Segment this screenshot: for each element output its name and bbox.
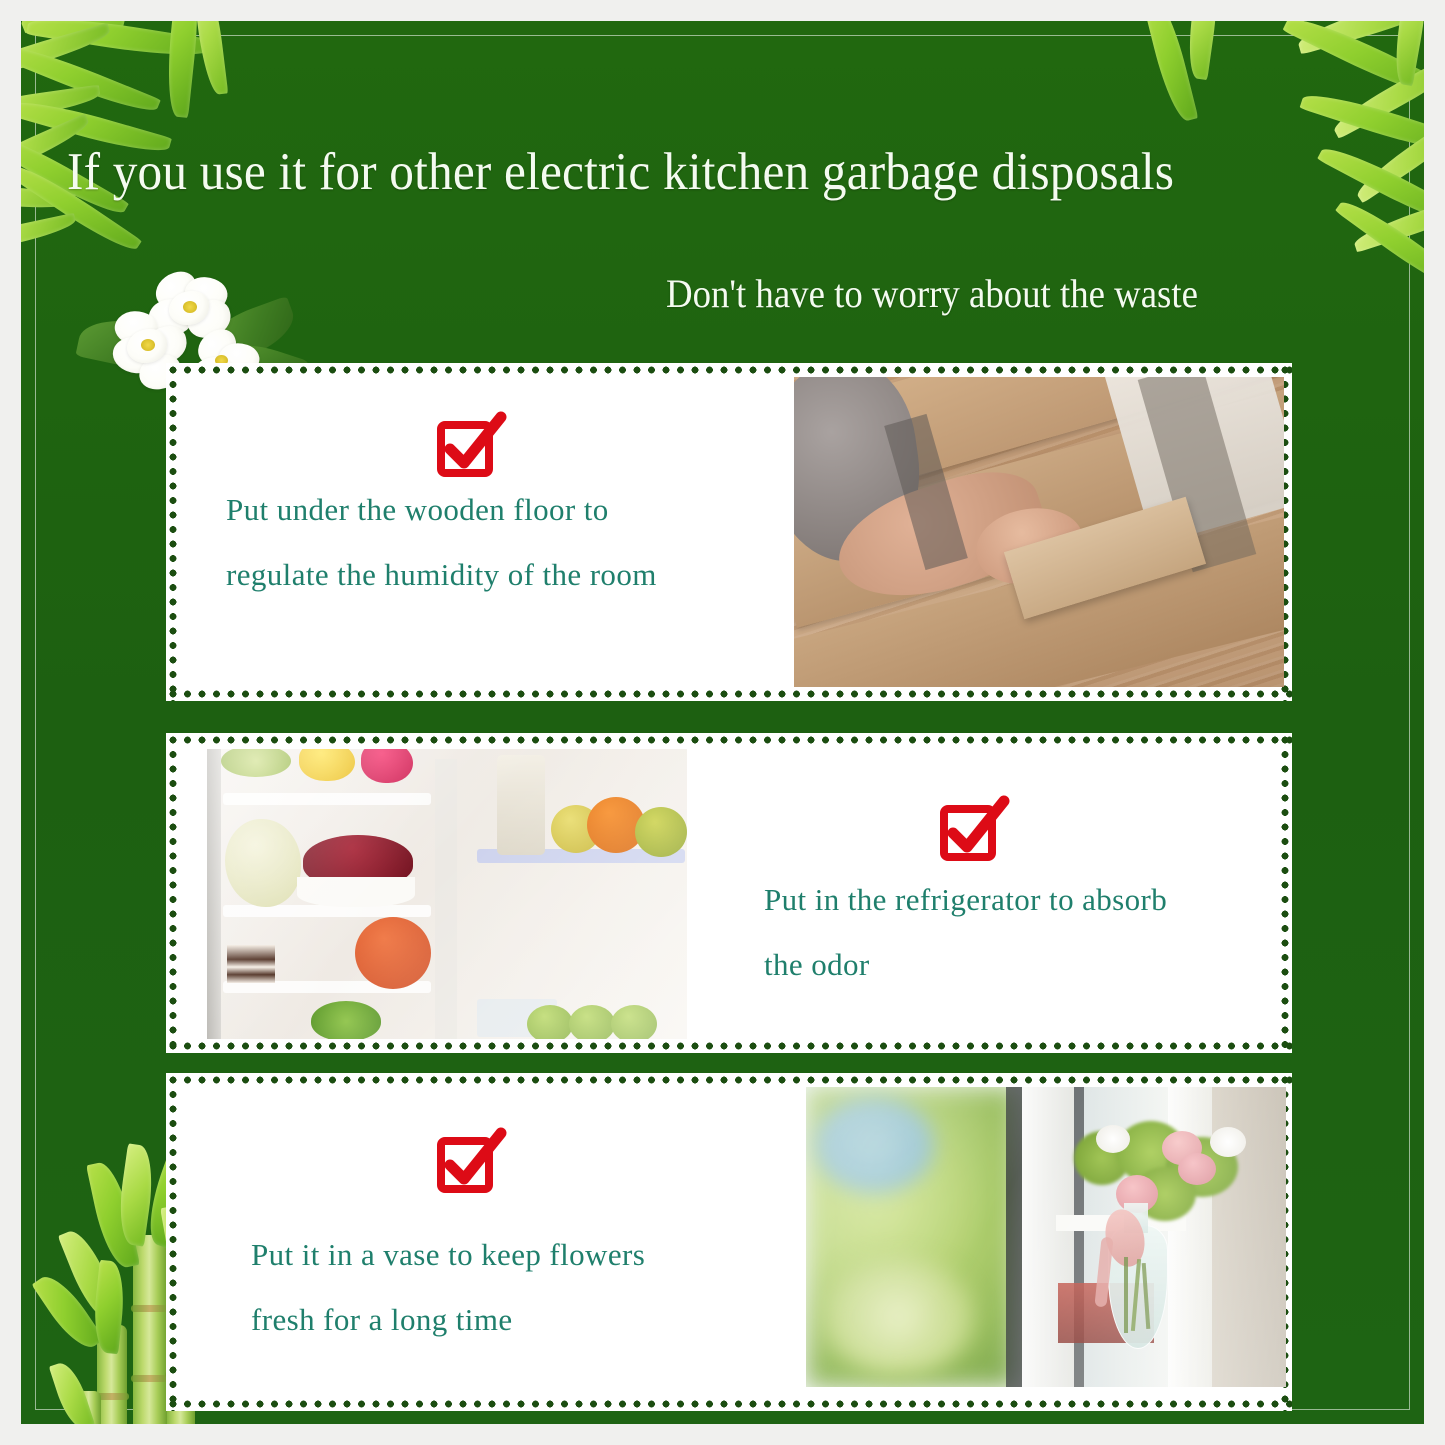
wooden-floor-installation-photo: [794, 377, 1284, 687]
red-checkbox-icon: [433, 1125, 509, 1201]
card-line: the odor: [764, 948, 1284, 981]
card-text-wooden-floor: Put under the wooden floor to regulate t…: [226, 493, 786, 592]
card-line: Put it in a vase to keep flowers: [251, 1238, 811, 1271]
feature-card-refrigerator: Put in the refrigerator to absorb the od…: [166, 733, 1292, 1053]
open-refrigerator-photo: [207, 749, 687, 1039]
feature-card-wooden-floor: Put under the wooden floor to regulate t…: [166, 363, 1292, 701]
poster-root: If you use it for other electric kitchen…: [0, 0, 1445, 1445]
flower-vase-window-photo: [806, 1087, 1286, 1387]
page-subtitle: Don't have to worry about the waste: [666, 273, 1198, 315]
card-text-refrigerator: Put in the refrigerator to absorb the od…: [764, 883, 1284, 982]
feature-card-flower-vase: Put it in a vase to keep flowers fresh f…: [166, 1073, 1292, 1411]
page-title: If you use it for other electric kitchen…: [67, 145, 1332, 201]
card-text-flower-vase: Put it in a vase to keep flowers fresh f…: [251, 1238, 811, 1337]
card-line: fresh for a long time: [251, 1303, 811, 1336]
green-background-panel: If you use it for other electric kitchen…: [21, 21, 1424, 1424]
card-line: Put under the wooden floor to: [226, 493, 786, 526]
card-line: Put in the refrigerator to absorb: [764, 883, 1284, 916]
red-checkbox-icon: [433, 409, 509, 485]
card-line: regulate the humidity of the room: [226, 558, 786, 591]
red-checkbox-icon: [936, 793, 1012, 869]
